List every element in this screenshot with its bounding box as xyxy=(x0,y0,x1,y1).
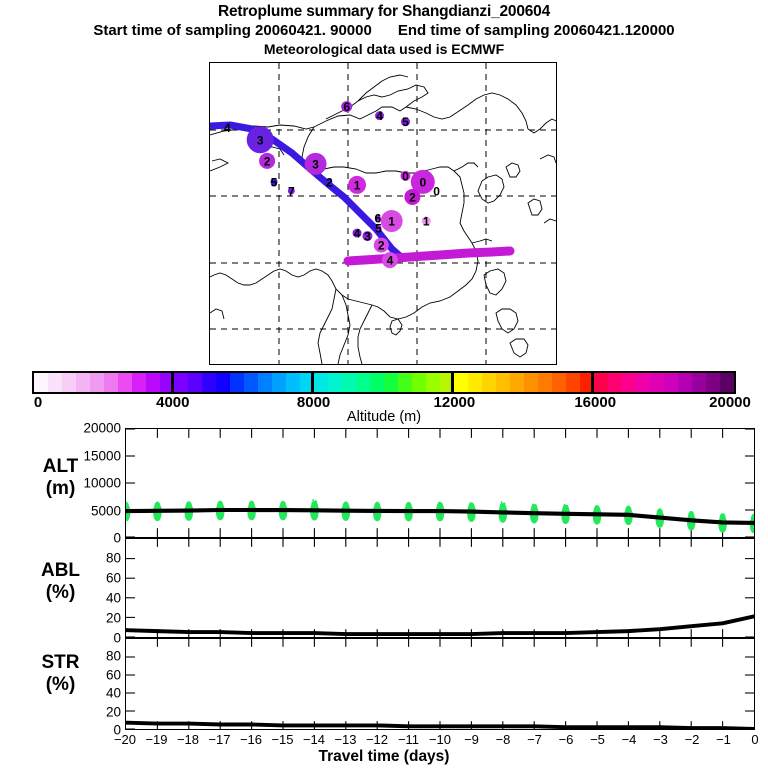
colorbar-swatch-20 xyxy=(314,373,328,392)
xtick-5: −15 xyxy=(271,732,293,747)
plume-day-label: 0 xyxy=(433,184,440,198)
xtick-20: 0 xyxy=(751,732,758,747)
plume-day-label: 0 xyxy=(419,175,426,189)
plume-day-label: 5 xyxy=(402,115,409,129)
colorbar-swatch-18 xyxy=(286,373,300,392)
xtick-19: −1 xyxy=(716,732,731,747)
abl-plot-panel xyxy=(125,538,755,638)
colorbar-swatch-2 xyxy=(62,373,76,392)
alt-ytick-15000: 15000 xyxy=(55,448,121,463)
colorbar-swatch-48 xyxy=(706,373,720,392)
alt-ytick-10000: 10000 xyxy=(55,476,121,491)
altitude-colorbar xyxy=(32,371,736,394)
colorbar-swatch-40 xyxy=(594,373,608,392)
colorbar-swatch-49 xyxy=(720,373,734,392)
abl-ytick-80: 80 xyxy=(55,551,121,566)
str-plot-panel xyxy=(125,638,755,730)
plume-day-label: 4 xyxy=(354,227,361,241)
alt-ytick-20000: 20000 xyxy=(55,421,121,436)
colorbar-swatch-0 xyxy=(34,373,48,392)
colorbar-swatch-22 xyxy=(342,373,356,392)
xtick-15: −5 xyxy=(590,732,605,747)
colorbar-swatch-21 xyxy=(328,373,342,392)
colorbar-swatch-42 xyxy=(622,373,636,392)
xtick-13: −7 xyxy=(527,732,542,747)
abl-ytick-60: 60 xyxy=(55,571,121,586)
colorbar-divider xyxy=(171,371,174,394)
xtick-1: −19 xyxy=(145,732,167,747)
colorbar-swatch-1 xyxy=(48,373,62,392)
colorbar-swatch-41 xyxy=(608,373,622,392)
xtick-11: −9 xyxy=(464,732,479,747)
plume-day-label: 2 xyxy=(378,239,385,253)
colorbar-swatch-11 xyxy=(188,373,202,392)
abl-plot-svg xyxy=(126,539,754,637)
plume-day-label: 5 xyxy=(375,221,382,235)
plume-day-label: 1 xyxy=(388,215,395,229)
plume-day-label: 2 xyxy=(409,190,416,204)
colorbar-swatch-23 xyxy=(356,373,370,392)
colorbar-swatch-43 xyxy=(636,373,650,392)
xtick-2: −18 xyxy=(177,732,199,747)
plume-day-label: 2 xyxy=(326,175,333,189)
alt-ytick-0: 0 xyxy=(55,531,121,546)
xtick-18: −2 xyxy=(685,732,700,747)
plume-day-label: 1 xyxy=(354,178,361,192)
str-ytick-20: 20 xyxy=(55,704,121,719)
colorbar-swatch-31 xyxy=(468,373,482,392)
str-plot-svg xyxy=(126,639,754,729)
colorbar-swatch-12 xyxy=(202,373,216,392)
colorbar-swatch-15 xyxy=(244,373,258,392)
colorbar-swatch-6 xyxy=(118,373,132,392)
plume-day-label: 3 xyxy=(257,133,264,147)
xtick-17: −3 xyxy=(653,732,668,747)
page-title: Retroplume summary for Shangdianzi_20060… xyxy=(0,2,768,21)
colorbar-swatch-10 xyxy=(174,373,188,392)
colorbar-swatch-8 xyxy=(146,373,160,392)
colorbar-swatch-33 xyxy=(496,373,510,392)
colorbar-swatch-30 xyxy=(454,373,468,392)
colorbar-swatch-44 xyxy=(650,373,664,392)
colorbar-wrap xyxy=(32,371,736,394)
colorbar-swatch-24 xyxy=(370,373,384,392)
xtick-16: −4 xyxy=(622,732,637,747)
plume-day-label: 3 xyxy=(364,230,371,244)
x-tick-marks xyxy=(157,639,722,729)
abl-ytick-0: 0 xyxy=(55,631,121,646)
colorbar-swatch-46 xyxy=(678,373,692,392)
colorbar-swatch-13 xyxy=(216,373,230,392)
xtick-12: −8 xyxy=(496,732,511,747)
plume-day-label: 4 xyxy=(224,121,231,135)
plume-day-label: 3 xyxy=(312,157,319,171)
colorbar-swatch-26 xyxy=(398,373,412,392)
plume-day-label: 7 xyxy=(288,184,295,198)
colorbar-swatch-28 xyxy=(426,373,440,392)
abl-ytick-20: 20 xyxy=(55,611,121,626)
str-ytick-0: 0 xyxy=(55,723,121,738)
title-block: Retroplume summary for Shangdianzi_20060… xyxy=(0,2,768,58)
xtick-10: −10 xyxy=(429,732,451,747)
plume-day-label: 1 xyxy=(423,215,430,229)
start-time-text: Start time of sampling 20060421. 90000 xyxy=(93,21,371,40)
str-ytick-40: 40 xyxy=(55,686,121,701)
colorbar-swatch-5 xyxy=(104,373,118,392)
y-tick-marks xyxy=(126,559,754,637)
plume-day-label: 6 xyxy=(343,100,350,114)
abl-ytick-40: 40 xyxy=(55,591,121,606)
colorbar-swatch-3 xyxy=(76,373,90,392)
alt-plot-svg xyxy=(126,429,754,537)
colorbar-swatch-47 xyxy=(692,373,706,392)
plume-day-label: 2 xyxy=(264,154,271,168)
colorbar-swatch-25 xyxy=(384,373,398,392)
xtick-6: −14 xyxy=(303,732,325,747)
map-panel: 43236455721002016543214 xyxy=(209,62,557,365)
map-markers-layer: 43236455721002016543214 xyxy=(210,63,556,364)
plume-day-label: 4 xyxy=(376,109,383,123)
colorbar-swatch-38 xyxy=(566,373,580,392)
alt-plot-panel xyxy=(125,428,755,538)
xtick-3: −17 xyxy=(208,732,230,747)
xtick-4: −16 xyxy=(240,732,262,747)
x-tick-marks xyxy=(157,539,722,637)
plume-day-label: 4 xyxy=(387,254,394,268)
colorbar-swatch-7 xyxy=(132,373,146,392)
colorbar-swatch-17 xyxy=(272,373,286,392)
xtick-9: −11 xyxy=(398,732,419,747)
colorbar-divider xyxy=(591,371,594,394)
colorbar-swatch-34 xyxy=(510,373,524,392)
str-ytick-60: 60 xyxy=(55,667,121,682)
end-time-text: End time of sampling 20060421.120000 xyxy=(398,21,675,40)
colorbar-swatch-37 xyxy=(552,373,566,392)
sampling-time-row: Start time of sampling 20060421. 90000 E… xyxy=(0,21,768,40)
colorbar-swatch-16 xyxy=(258,373,272,392)
travel-time-axis-label: Travel time (days) xyxy=(0,748,768,766)
xtick-7: −13 xyxy=(334,732,356,747)
str-ytick-80: 80 xyxy=(55,649,121,664)
plume-day-label: 0 xyxy=(402,169,409,183)
colorbar-swatch-35 xyxy=(524,373,538,392)
colorbar-swatch-45 xyxy=(664,373,678,392)
xtick-8: −12 xyxy=(366,732,388,747)
colorbar-divider xyxy=(451,371,454,394)
colorbar-swatch-32 xyxy=(482,373,496,392)
colorbar-swatch-14 xyxy=(230,373,244,392)
y-tick-marks xyxy=(126,657,754,729)
colorbar-swatch-4 xyxy=(90,373,104,392)
plume-day-label: 5 xyxy=(271,175,278,189)
met-data-text: Meteorological data used is ECMWF xyxy=(0,40,768,58)
colorbar-divider xyxy=(311,371,314,394)
xtick-14: −6 xyxy=(559,732,574,747)
colorbar-swatch-36 xyxy=(538,373,552,392)
colorbar-swatch-27 xyxy=(412,373,426,392)
alt-ytick-5000: 5000 xyxy=(55,503,121,518)
